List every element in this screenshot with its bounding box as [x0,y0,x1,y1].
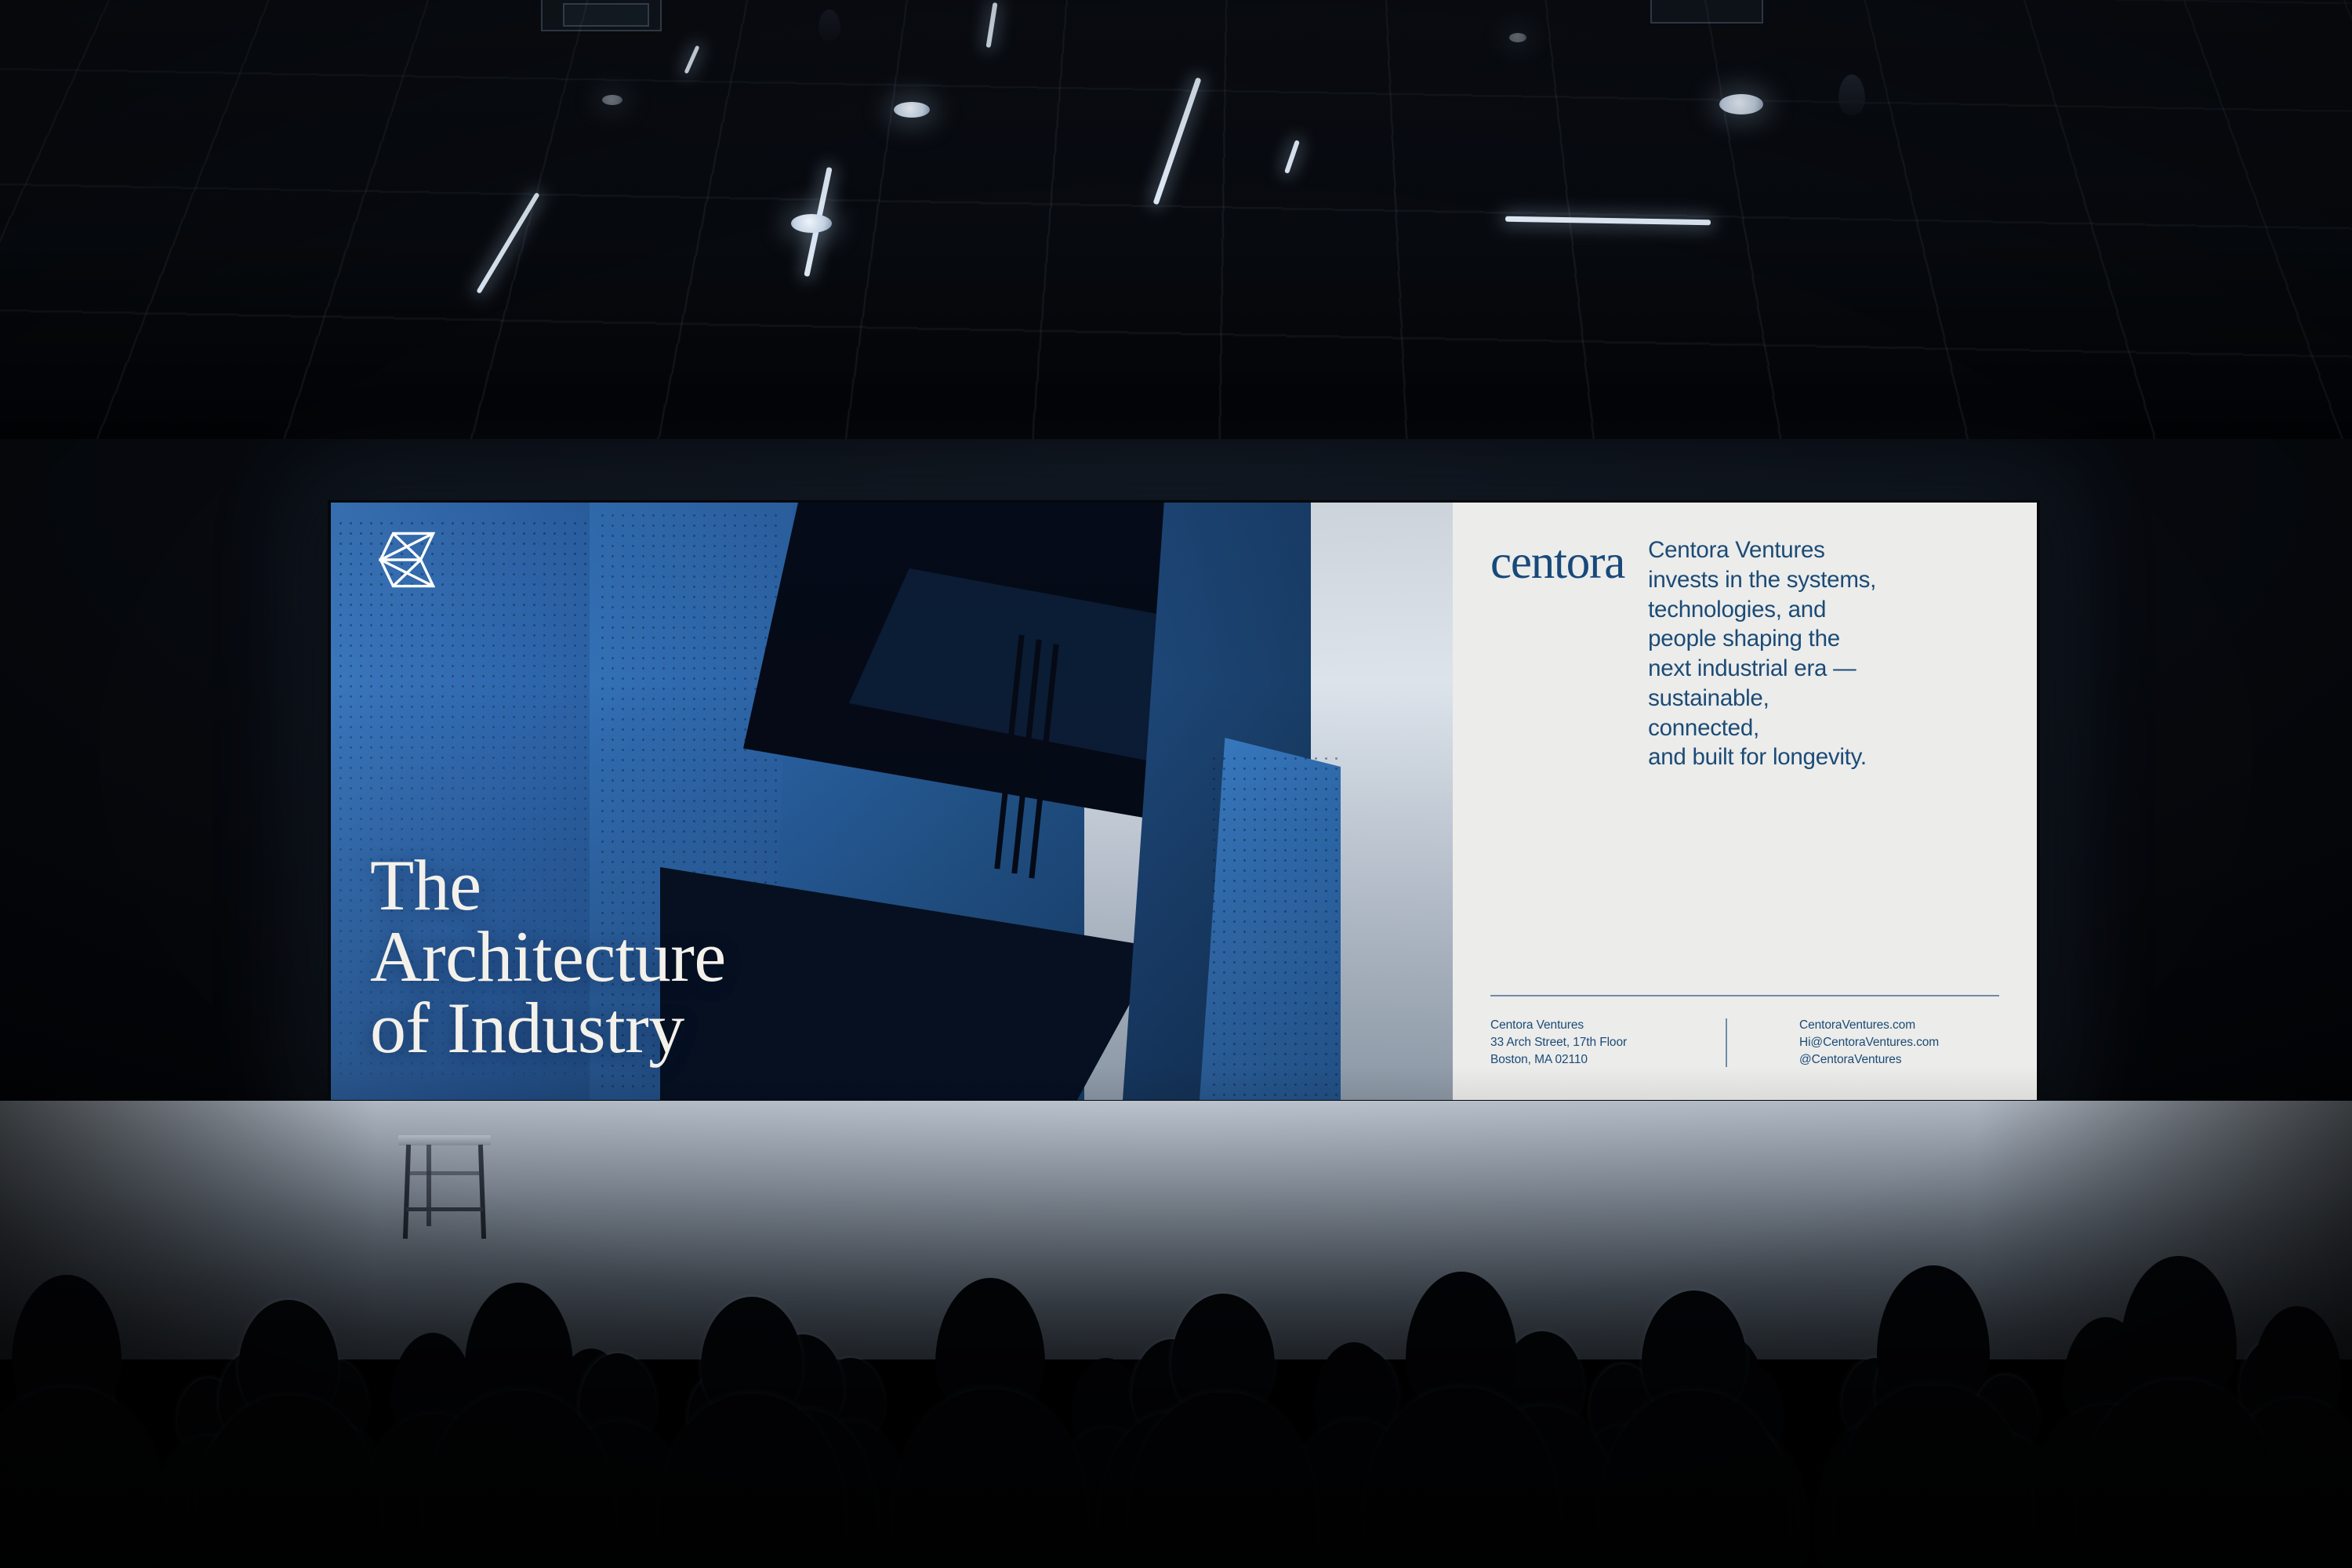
audience-body [196,1396,381,1568]
audience-body [894,1389,1087,1568]
recessed-downlight [894,102,930,118]
presentation-screen[interactable]: The Architecture of Industry centora Cen… [328,500,2040,1102]
audience-member [0,1286,165,1568]
footer-address: Centora Ventures 33 Arch Street, 17th Fl… [1490,1017,1726,1069]
recessed-downlight [602,95,622,105]
audience-member [423,1292,615,1568]
audience-member [2078,1273,2280,1568]
ceiling-speaker [818,9,840,41]
footer-columns: Centora Ventures 33 Arch Street, 17th Fl… [1490,1017,1999,1069]
audience-body [1599,1391,1789,1568]
slide-info-panel: centora Centora Ventures invests in the … [1453,503,2037,1100]
audience-member [1129,1297,1317,1568]
ceiling-grid [0,0,2352,439]
slide-headline: The Architecture of Industry [370,850,726,1064]
audience-member [196,1301,381,1568]
centora-lattice-mark-icon [376,528,438,591]
recessed-downlight [1509,33,1526,42]
keynote-stage-scene: The Architecture of Industry centora Cen… [0,0,2352,1568]
audience-body [1835,1385,2032,1568]
audience-member [1599,1294,1789,1568]
audience-body [423,1391,615,1568]
ceiling-vent-fixture [563,3,649,27]
panel-footer: Centora Ventures 33 Arch Street, 17th Fl… [1490,995,1999,1069]
audience-body [0,1388,165,1568]
ceiling-vent-fixture [1650,0,1763,24]
slide: The Architecture of Industry centora Cen… [331,503,2037,1100]
footer-divider-rule [1490,995,1999,996]
recessed-downlight [1719,94,1763,114]
audience-body [659,1394,845,1568]
audience-body [1364,1388,1559,1568]
panel-header: centora Centora Ventures invests in the … [1490,535,1999,772]
ceiling [0,0,2352,439]
audience-silhouettes [0,1066,2352,1568]
centora-wordmark: centora [1490,535,1624,586]
audience-body [2078,1380,2280,1568]
audience-member [1364,1286,1559,1568]
slide-photo-industrial-architecture: The Architecture of Industry [331,503,1453,1100]
footer-contact: CentoraVentures.com Hi@CentoraVentures.c… [1727,1017,1939,1069]
audience-member [659,1298,845,1568]
audience-member [1835,1281,2032,1568]
company-description: Centora Ventures invests in the systems,… [1648,535,1883,772]
recessed-downlight [791,214,832,233]
audience-member [894,1289,1087,1568]
audience-body [1129,1392,1317,1568]
